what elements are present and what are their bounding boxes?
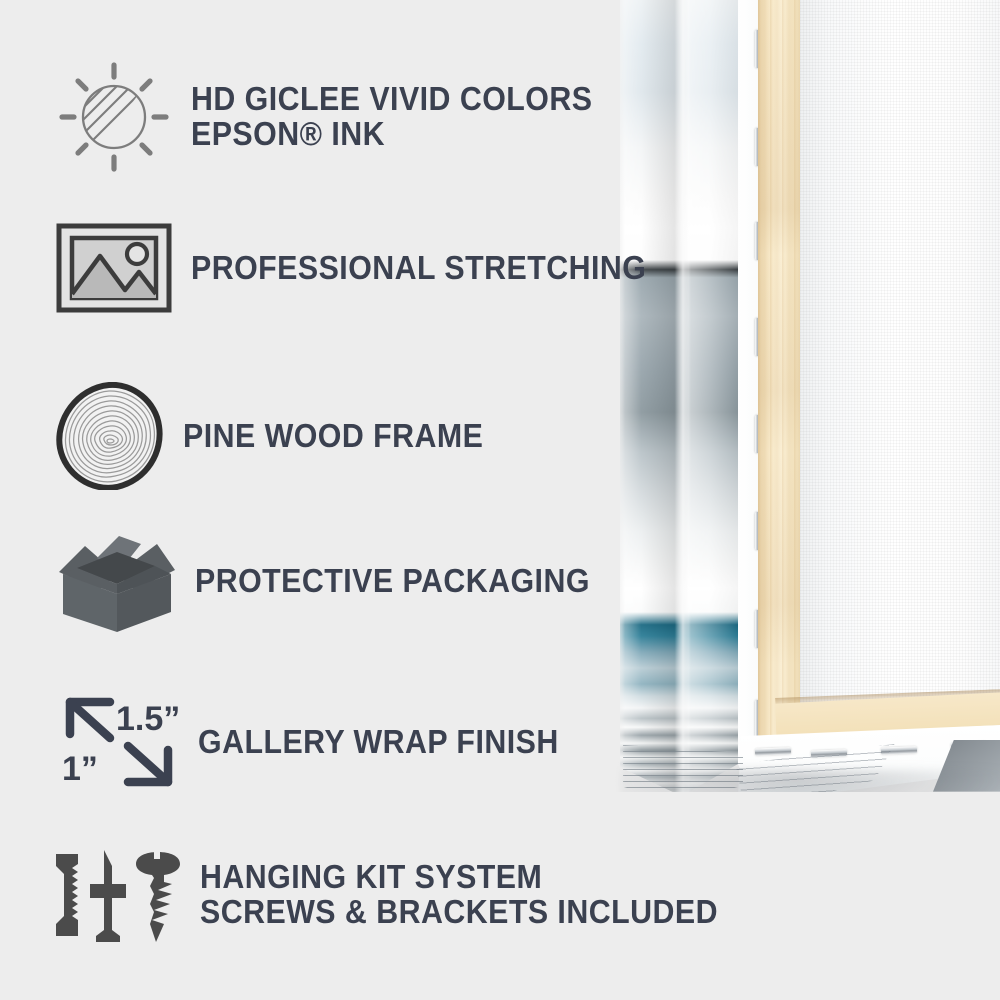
feature-label: PINE WOOD FRAME xyxy=(183,419,483,454)
depth-arrows-icon: 1.5” 1” xyxy=(58,694,180,790)
sun-hatched-icon xyxy=(55,58,173,176)
feature-label-line: GALLERY WRAP FINISH xyxy=(198,725,559,760)
feature-row-hanging-kit: HANGING KIT SYSTEM SCREWS & BRACKETS INC… xyxy=(50,846,763,944)
feature-label: HD GICLEE VIVID COLORS EPSON® INK xyxy=(191,82,592,152)
open-box-icon xyxy=(55,528,177,634)
printed-wrapped-edge xyxy=(620,0,738,796)
staple xyxy=(755,747,791,755)
tree-rings-icon xyxy=(55,382,165,490)
feature-label: HANGING KIT SYSTEM SCREWS & BRACKETS INC… xyxy=(200,860,718,930)
feature-row-hd-giclee: HD GICLEE VIVID COLORS EPSON® INK xyxy=(55,58,627,176)
feature-row-professional-stretching: PROFESSIONAL STRETCHING xyxy=(55,222,686,314)
feature-label: PROTECTIVE PACKAGING xyxy=(195,564,590,599)
feature-row-protective-packaging: PROTECTIVE PACKAGING xyxy=(55,528,624,634)
feature-row-pine-wood-frame: PINE WOOD FRAME xyxy=(55,382,510,490)
feature-list: HD GICLEE VIVID COLORS EPSON® INK PROFES… xyxy=(0,0,620,1000)
depth-label-bottom: 1” xyxy=(62,750,98,788)
picture-frame-icon xyxy=(55,222,173,314)
hanging-hardware-icon xyxy=(50,846,182,944)
depth-label-top: 1.5” xyxy=(116,700,180,738)
feature-label-line: PROFESSIONAL STRETCHING xyxy=(191,251,646,286)
feature-label-line: HD GICLEE VIVID COLORS xyxy=(191,82,592,117)
feature-label: PROFESSIONAL STRETCHING xyxy=(191,251,646,286)
feature-label-line: PROTECTIVE PACKAGING xyxy=(195,564,590,599)
feature-label-line: PINE WOOD FRAME xyxy=(183,419,483,454)
feature-label-line: SCREWS & BRACKETS INCLUDED xyxy=(200,895,718,930)
canvas-back-panel xyxy=(800,0,1000,738)
feature-label: GALLERY WRAP FINISH xyxy=(198,725,559,760)
feature-label-line: EPSON® INK xyxy=(191,117,592,152)
feature-label-line: HANGING KIT SYSTEM xyxy=(200,860,718,895)
infographic-canvas: HD GICLEE VIVID COLORS EPSON® INK PROFES… xyxy=(0,0,1000,1000)
feature-row-gallery-wrap-finish: 1.5” 1” GALLERY WRAP FINISH xyxy=(58,694,590,790)
